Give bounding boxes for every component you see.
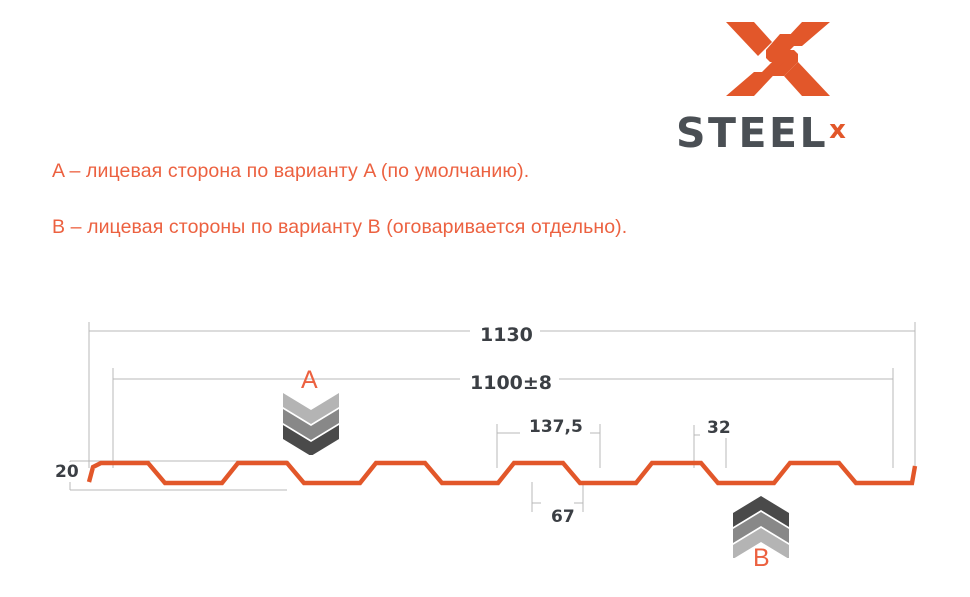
brand-name-main: STEEL: [676, 113, 828, 154]
dimension-total-width: 1130: [473, 324, 540, 346]
marker-label-b: B: [753, 544, 770, 573]
steelx-logo-icon: [724, 18, 832, 100]
brand-wordmark: STEEL x: [676, 110, 908, 154]
dimension-valley-flat: 67: [544, 507, 582, 527]
note-variant-b: B – лицевая стороны по варианту B (огова…: [52, 216, 627, 239]
note-variant-a: A – лицевая сторона по варианту A (по ум…: [52, 160, 529, 183]
dimension-rib-top-flat: 32: [700, 418, 738, 438]
corrugated-profile-path: [89, 463, 915, 483]
brand-name-superscript: x: [829, 117, 846, 143]
dimension-profile-height: 20: [48, 462, 86, 482]
screenshot-root: STEEL x A – лицевая сторона по варианту …: [0, 0, 970, 597]
chevron-down-stack-icon: [283, 393, 339, 460]
marker-label-a: A: [301, 366, 318, 395]
brand-logo[interactable]: STEEL x: [676, 18, 908, 146]
dimension-rib-pitch: 137,5: [522, 417, 590, 437]
dimension-useful-width: 1100±8: [463, 372, 559, 394]
